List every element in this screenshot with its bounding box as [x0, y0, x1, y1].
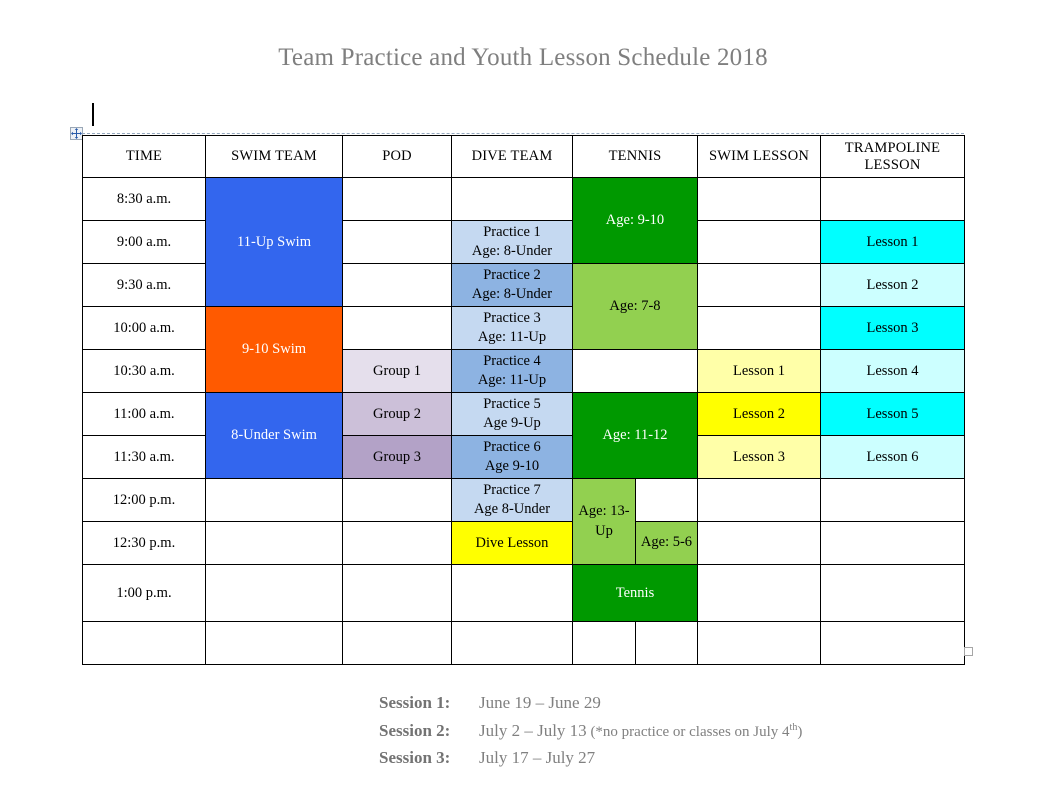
dive-practice-6[interactable]: Practice 6 Age 9-10: [452, 436, 573, 479]
table-row: 10:00 a.m. 9-10 Swim Practice 3 Age: 11-…: [83, 307, 965, 350]
pod-empty[interactable]: [343, 479, 452, 522]
time-label-1230: 12:30 p.m.: [83, 522, 206, 565]
dive-practice-7-age: Age 8-Under: [455, 500, 569, 519]
column-header-swim-lesson: SWIM LESSON: [698, 136, 821, 178]
session-row-3: Session 3:July 17 – July 27: [379, 745, 802, 770]
pod-group-3[interactable]: Group 3: [343, 436, 452, 479]
pod-empty[interactable]: [343, 178, 452, 221]
dive-practice-6-age: Age 9-10: [455, 457, 569, 476]
dive-practice-3-name: Practice 3: [455, 309, 569, 328]
dive-practice-7-name: Practice 7: [455, 481, 569, 500]
swim-team-11-up[interactable]: 11-Up Swim: [206, 178, 343, 307]
swim-lesson-empty[interactable]: [698, 522, 821, 565]
dive-practice-4-age: Age: 11-Up: [455, 371, 569, 390]
tennis-sub-empty[interactable]: [636, 479, 698, 522]
table-row: [83, 622, 965, 665]
time-label-1000: 10:00 a.m.: [83, 307, 206, 350]
dive-practice-6-name: Practice 6: [455, 438, 569, 457]
tennis-age-5-6[interactable]: Age: 5-6: [636, 522, 698, 565]
table-row: 1:00 p.m. Tennis: [83, 565, 965, 622]
session-3-dates: July 17 – July 27: [479, 748, 595, 767]
tennis-age-13-up[interactable]: Age: 13-Up: [573, 479, 636, 565]
swim-lesson-empty[interactable]: [698, 178, 821, 221]
dive-practice-2-name: Practice 2: [455, 266, 569, 285]
swim-team-empty[interactable]: [206, 565, 343, 622]
session-2-note-tail: ): [797, 724, 802, 740]
dive-practice-5-age: Age 9-Up: [455, 414, 569, 433]
trampoline-empty[interactable]: [821, 565, 965, 622]
swim-team-empty[interactable]: [206, 522, 343, 565]
dive-empty[interactable]: [452, 565, 573, 622]
pod-empty[interactable]: [343, 522, 452, 565]
swim-lesson-empty[interactable]: [698, 307, 821, 350]
table-header-row: TIME SWIM TEAM POD DIVE TEAM TENNIS SWIM…: [83, 136, 965, 178]
swim-lesson-empty[interactable]: [698, 479, 821, 522]
pod-group-2[interactable]: Group 2: [343, 393, 452, 436]
column-header-tennis: TENNIS: [573, 136, 698, 178]
trampoline-lesson-4[interactable]: Lesson 4: [821, 350, 965, 393]
table-row: 12:30 p.m. Dive Lesson Age: 5-6: [83, 522, 965, 565]
trampoline-lesson-3[interactable]: Lesson 3: [821, 307, 965, 350]
tennis-sub-empty[interactable]: [636, 622, 698, 665]
time-label-1100: 11:00 a.m.: [83, 393, 206, 436]
tennis-empty[interactable]: [573, 350, 698, 393]
swim-team-empty[interactable]: [206, 479, 343, 522]
column-header-trampoline-lesson: TRAMPOLINE LESSON: [821, 136, 965, 178]
schedule-table[interactable]: TIME SWIM TEAM POD DIVE TEAM TENNIS SWIM…: [82, 135, 965, 665]
session-row-2: Session 2:July 2 – July 13 (*no practice…: [379, 715, 802, 745]
dive-practice-2[interactable]: Practice 2 Age: 8-Under: [452, 264, 573, 307]
swim-team-8-under[interactable]: 8-Under Swim: [206, 393, 343, 479]
tennis-sub-empty[interactable]: [573, 622, 636, 665]
text-cursor-caret: [92, 103, 94, 126]
table-row: 11:00 a.m. 8-Under Swim Group 2 Practice…: [83, 393, 965, 436]
table-row: 8:30 a.m. 11-Up Swim Age: 9-10: [83, 178, 965, 221]
swim-lesson-empty[interactable]: [698, 622, 821, 665]
pod-empty[interactable]: [343, 221, 452, 264]
time-label-1200: 12:00 p.m.: [83, 479, 206, 522]
time-label-1030: 10:30 a.m.: [83, 350, 206, 393]
trampoline-lesson-2[interactable]: Lesson 2: [821, 264, 965, 307]
dive-empty[interactable]: [452, 622, 573, 665]
dive-practice-7[interactable]: Practice 7 Age 8-Under: [452, 479, 573, 522]
swim-lesson-2[interactable]: Lesson 2: [698, 393, 821, 436]
trampoline-lesson-6[interactable]: Lesson 6: [821, 436, 965, 479]
time-label-1130: 11:30 a.m.: [83, 436, 206, 479]
time-label-0930: 9:30 a.m.: [83, 264, 206, 307]
trampoline-empty[interactable]: [821, 622, 965, 665]
dive-practice-1[interactable]: Practice 1 Age: 8-Under: [452, 221, 573, 264]
swim-lesson-3[interactable]: Lesson 3: [698, 436, 821, 479]
session-2-dates: July 2 – July 13: [479, 721, 587, 740]
dive-lesson[interactable]: Dive Lesson: [452, 522, 573, 565]
swim-team-9-10[interactable]: 9-10 Swim: [206, 307, 343, 393]
dive-practice-1-age: Age: 8-Under: [455, 242, 569, 261]
session-row-1: Session 1:June 19 – June 29: [379, 690, 802, 715]
trampoline-lesson-1[interactable]: Lesson 1: [821, 221, 965, 264]
time-label-0100: 1:00 p.m.: [83, 565, 206, 622]
pod-group-1[interactable]: Group 1: [343, 350, 452, 393]
session-1-label: Session 1:: [379, 690, 479, 715]
dive-practice-3[interactable]: Practice 3 Age: 11-Up: [452, 307, 573, 350]
swim-lesson-empty[interactable]: [698, 565, 821, 622]
time-label-blank: [83, 622, 206, 665]
dive-practice-3-age: Age: 11-Up: [455, 328, 569, 347]
column-header-swim-team: SWIM TEAM: [206, 136, 343, 178]
tennis-age-7-8[interactable]: Age: 7-8: [573, 264, 698, 350]
session-1-dates: June 19 – June 29: [479, 693, 601, 712]
dive-practice-4[interactable]: Practice 4 Age: 11-Up: [452, 350, 573, 393]
table-resize-handle[interactable]: [964, 647, 973, 656]
dive-practice-5[interactable]: Practice 5 Age 9-Up: [452, 393, 573, 436]
dive-practice-2-age: Age: 8-Under: [455, 285, 569, 304]
tennis-general[interactable]: Tennis: [573, 565, 698, 622]
pod-empty[interactable]: [343, 565, 452, 622]
column-header-time: TIME: [83, 136, 206, 178]
time-label-0830: 8:30 a.m.: [83, 178, 206, 221]
session-3-label: Session 3:: [379, 745, 479, 770]
pod-empty[interactable]: [343, 622, 452, 665]
dive-empty[interactable]: [452, 178, 573, 221]
dive-practice-4-name: Practice 4: [455, 352, 569, 371]
pod-empty[interactable]: [343, 264, 452, 307]
trampoline-empty[interactable]: [821, 522, 965, 565]
column-header-pod: POD: [343, 136, 452, 178]
time-label-0900: 9:00 a.m.: [83, 221, 206, 264]
pod-empty[interactable]: [343, 307, 452, 350]
tennis-age-11-12[interactable]: Age: 11-12: [573, 393, 698, 479]
session-notes: Session 1:June 19 – June 29 Session 2:Ju…: [379, 690, 802, 770]
dive-practice-5-name: Practice 5: [455, 395, 569, 414]
session-2-note: (*no practice or classes on July 4th): [587, 724, 803, 740]
swim-lesson-empty[interactable]: [698, 264, 821, 307]
session-2-label: Session 2:: [379, 718, 479, 743]
session-2-note-text: (*no practice or classes on July 4: [590, 724, 789, 740]
trampoline-lesson-5[interactable]: Lesson 5: [821, 393, 965, 436]
swim-lesson-1[interactable]: Lesson 1: [698, 350, 821, 393]
table-row: 12:00 p.m. Practice 7 Age 8-Under Age: 1…: [83, 479, 965, 522]
swim-team-empty[interactable]: [206, 622, 343, 665]
swim-lesson-empty[interactable]: [698, 221, 821, 264]
column-header-dive-team: DIVE TEAM: [452, 136, 573, 178]
tennis-age-9-10[interactable]: Age: 9-10: [573, 178, 698, 264]
trampoline-empty[interactable]: [821, 479, 965, 522]
dive-practice-1-name: Practice 1: [455, 223, 569, 242]
trampoline-empty[interactable]: [821, 178, 965, 221]
page-title: Team Practice and Youth Lesson Schedule …: [0, 44, 1046, 72]
